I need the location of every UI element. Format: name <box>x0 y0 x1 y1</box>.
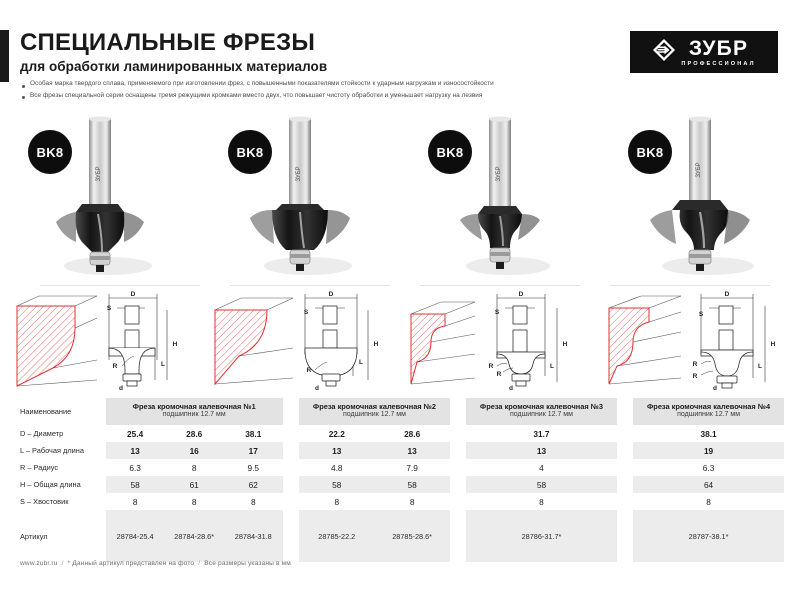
group-title: Фреза кромочная калевочная №1 <box>108 402 281 411</box>
group-header-4: Фреза кромочная калевочная №4 подшипник … <box>633 398 784 425</box>
value-cell: 7.9 <box>374 459 449 476</box>
brand-logo: ЗУБР ПРОФЕССИОНАЛ <box>630 31 778 73</box>
svg-text:R: R <box>489 363 494 370</box>
title-block: СПЕЦИАЛЬНЫЕ ФРЕЗЫ для обработки ламиниро… <box>20 30 327 74</box>
bk8-badge: BK8 <box>628 130 672 174</box>
list-item: Все фрезы специальной серии оснащены тре… <box>22 92 622 101</box>
value-cell: 13 <box>106 442 165 459</box>
row-label-d: D – Диаметр <box>18 425 106 442</box>
group-subtitle: подшипник 12.7 мм <box>635 411 782 420</box>
group-title: Фреза кромочная калевочная №2 <box>301 402 448 411</box>
table-row: S – Хвостовик 8 8 8 8 8 8 8 <box>18 493 784 510</box>
svg-text:d: d <box>713 385 717 392</box>
diagram-cell-3: D S H L R R d <box>400 288 600 394</box>
bk8-badge: BK8 <box>228 130 272 174</box>
title-accent-bar <box>0 30 9 82</box>
svg-text:d: d <box>509 385 513 392</box>
value-cell: 4.8 <box>299 459 374 476</box>
svg-text:L: L <box>758 363 762 370</box>
zubr-arrow-icon <box>652 38 676 67</box>
svg-text:D: D <box>519 291 524 298</box>
bullet-text: Особая марка твердого сплава, применяемо… <box>30 80 494 89</box>
svg-text:ЗУБР: ЗУБР <box>696 162 702 177</box>
artikul-cell: 28787-38.1* <box>633 510 784 562</box>
value-cell: 64 <box>633 476 784 493</box>
value-cell: 8 <box>374 493 449 510</box>
table-group-header-row: Наименование Фреза кромочная калевочная … <box>18 398 784 425</box>
value-cell: 28.6 <box>165 425 224 442</box>
value-cell: 28.6 <box>374 425 449 442</box>
value-cell: 4 <box>466 459 617 476</box>
artikul-cell: 28784-31.8 <box>224 510 283 562</box>
footer-note-photo: * Данный артикул представлен на фото <box>68 560 195 567</box>
svg-text:R: R <box>693 373 698 380</box>
svg-text:ЗУБР: ЗУБР <box>496 166 502 181</box>
svg-text:H: H <box>563 341 568 348</box>
spacer <box>450 398 466 425</box>
value-cell: 13 <box>299 442 374 459</box>
bullet-dot-icon <box>22 85 25 88</box>
dimension-drawing-cove: D S H L R d <box>205 288 395 392</box>
dimension-drawing-ogee-large: D S H L R R d <box>605 288 795 392</box>
group-subtitle: подшипник 12.7 мм <box>468 411 615 420</box>
svg-text:D: D <box>725 291 730 298</box>
artikul-cell: 28785-22.2 <box>299 510 374 562</box>
artikul-cell: 28786-31.7* <box>466 510 617 562</box>
row-label-s: S – Хвостовик <box>18 493 106 510</box>
value-cell: 62 <box>224 476 283 493</box>
value-cell: 8 <box>299 493 374 510</box>
svg-text:L: L <box>550 363 554 370</box>
value-cell: 22.2 <box>299 425 374 442</box>
footer-separator: / <box>198 560 200 567</box>
svg-text:H: H <box>173 341 178 348</box>
table-row-artikul: Артикул 28784-25.4 28784-28.6* 28784-31.… <box>18 510 784 562</box>
product-cell-3: BK8 ЗУБР <box>400 112 600 284</box>
group-subtitle: подшипник 12.7 мм <box>108 411 281 420</box>
svg-text:d: d <box>315 385 319 392</box>
value-cell: 58 <box>299 476 374 493</box>
svg-text:ЗУБР: ЗУБР <box>96 166 102 181</box>
value-cell: 13 <box>374 442 449 459</box>
product-separator-line <box>420 285 580 286</box>
svg-text:R: R <box>497 371 502 378</box>
value-cell: 8 <box>466 493 617 510</box>
svg-text:S: S <box>304 309 309 316</box>
svg-text:D: D <box>329 291 334 298</box>
specification-table: Наименование Фреза кромочная калевочная … <box>18 398 784 562</box>
svg-text:d: d <box>119 385 123 392</box>
logo-wordmark: ЗУБР <box>689 38 748 59</box>
value-cell: 8 <box>224 493 283 510</box>
dimension-drawing-ogee-small: D S H L R R d <box>405 288 595 392</box>
feature-bullet-list: Особая марка твердого сплава, применяемо… <box>22 80 622 103</box>
page-title: СПЕЦИАЛЬНЫЕ ФРЕЗЫ <box>20 30 327 55</box>
value-cell: 61 <box>165 476 224 493</box>
value-cell: 58 <box>106 476 165 493</box>
footer-separator: / <box>62 560 64 567</box>
value-cell: 6.3 <box>106 459 165 476</box>
spacer <box>283 398 299 425</box>
product-separator-line <box>610 285 770 286</box>
bullet-dot-icon <box>22 96 25 99</box>
logo-tagline: ПРОФЕССИОНАЛ <box>681 61 755 67</box>
page-subtitle: для обработки ламинированных материалов <box>20 59 327 74</box>
row-label-artikul: Артикул <box>18 510 106 562</box>
value-cell: 16 <box>165 442 224 459</box>
product-cell-1: BK8 ЗУБР <box>0 112 200 284</box>
svg-text:R: R <box>113 363 118 370</box>
bullet-text: Все фрезы специальной серии оснащены тре… <box>30 92 482 101</box>
svg-text:S: S <box>495 309 500 316</box>
group-title: Фреза кромочная калевочная №3 <box>468 402 615 411</box>
value-cell: 58 <box>466 476 617 493</box>
row-label-r: R – Радиус <box>18 459 106 476</box>
table-row: D – Диаметр 25.4 28.6 38.1 22.2 28.6 31.… <box>18 425 784 442</box>
group-subtitle: подшипник 12.7 мм <box>301 411 448 420</box>
product-cell-4: BK8 ЗУБР <box>600 112 800 284</box>
diagram-cell-1: D S H L R d <box>0 288 200 394</box>
product-separator-line <box>40 285 200 286</box>
value-cell: 25.4 <box>106 425 165 442</box>
value-cell: 38.1 <box>633 425 784 442</box>
value-cell: 8 <box>165 493 224 510</box>
value-cell: 58 <box>374 476 449 493</box>
svg-text:L: L <box>359 359 363 366</box>
table-row: R – Радиус 6.3 8 9.5 4.8 7.9 4 6.3 <box>18 459 784 476</box>
svg-text:R: R <box>693 361 698 368</box>
artikul-cell: 28784-25.4 <box>106 510 165 562</box>
spacer <box>617 398 633 425</box>
diagram-cell-2: D S H L R d <box>200 288 400 394</box>
diagram-cell-4: D S H L R R d <box>600 288 800 394</box>
svg-text:S: S <box>699 311 704 318</box>
table-row: L – Рабочая длина 13 16 17 13 13 13 19 <box>18 442 784 459</box>
artikul-cell: 28784-28.6* <box>165 510 224 562</box>
value-cell: 13 <box>466 442 617 459</box>
group-header-2: Фреза кромочная калевочная №2 подшипник … <box>299 398 450 425</box>
name-column-header: Наименование <box>18 398 106 425</box>
value-cell: 8 <box>106 493 165 510</box>
dimension-drawing-roundover: D S H L R d <box>5 288 195 392</box>
product-cell-2: BK8 ЗУБР <box>200 112 400 284</box>
group-header-3: Фреза кромочная калевочная №3 подшипник … <box>466 398 617 425</box>
svg-text:D: D <box>131 291 136 298</box>
svg-text:ЗУБР: ЗУБР <box>296 166 302 181</box>
group-title: Фреза кромочная калевочная №4 <box>635 402 782 411</box>
footer-note-units: Все размеры указаны в мм <box>204 560 291 567</box>
value-cell: 8 <box>165 459 224 476</box>
product-image-strip: BK8 ЗУБР <box>0 112 800 284</box>
value-cell: 6.3 <box>633 459 784 476</box>
table-row: H – Общая длина 58 61 62 58 58 58 64 <box>18 476 784 493</box>
row-label-h: H – Общая длина <box>18 476 106 493</box>
value-cell: 8 <box>633 493 784 510</box>
value-cell: 9.5 <box>224 459 283 476</box>
row-label-l: L – Рабочая длина <box>18 442 106 459</box>
bk8-badge: BK8 <box>428 130 472 174</box>
page-footer: www.zubr.ru/* Данный артикул представлен… <box>20 560 291 567</box>
svg-text:S: S <box>107 305 112 312</box>
technical-diagram-strip: D S H L R d <box>0 288 800 394</box>
product-separator-line <box>230 285 390 286</box>
value-cell: 38.1 <box>224 425 283 442</box>
list-item: Особая марка твердого сплава, применяемо… <box>22 80 622 89</box>
value-cell: 19 <box>633 442 784 459</box>
footer-website[interactable]: www.zubr.ru <box>20 560 58 567</box>
value-cell: 31.7 <box>466 425 617 442</box>
svg-text:L: L <box>161 361 165 368</box>
page-header: СПЕЦИАЛЬНЫЕ ФРЕЗЫ для обработки ламиниро… <box>0 0 800 110</box>
bk8-badge: BK8 <box>28 130 72 174</box>
value-cell: 17 <box>224 442 283 459</box>
group-header-1: Фреза кромочная калевочная №1 подшипник … <box>106 398 283 425</box>
artikul-cell: 28785-28.6* <box>374 510 449 562</box>
svg-text:H: H <box>374 341 379 348</box>
svg-text:H: H <box>771 341 776 348</box>
